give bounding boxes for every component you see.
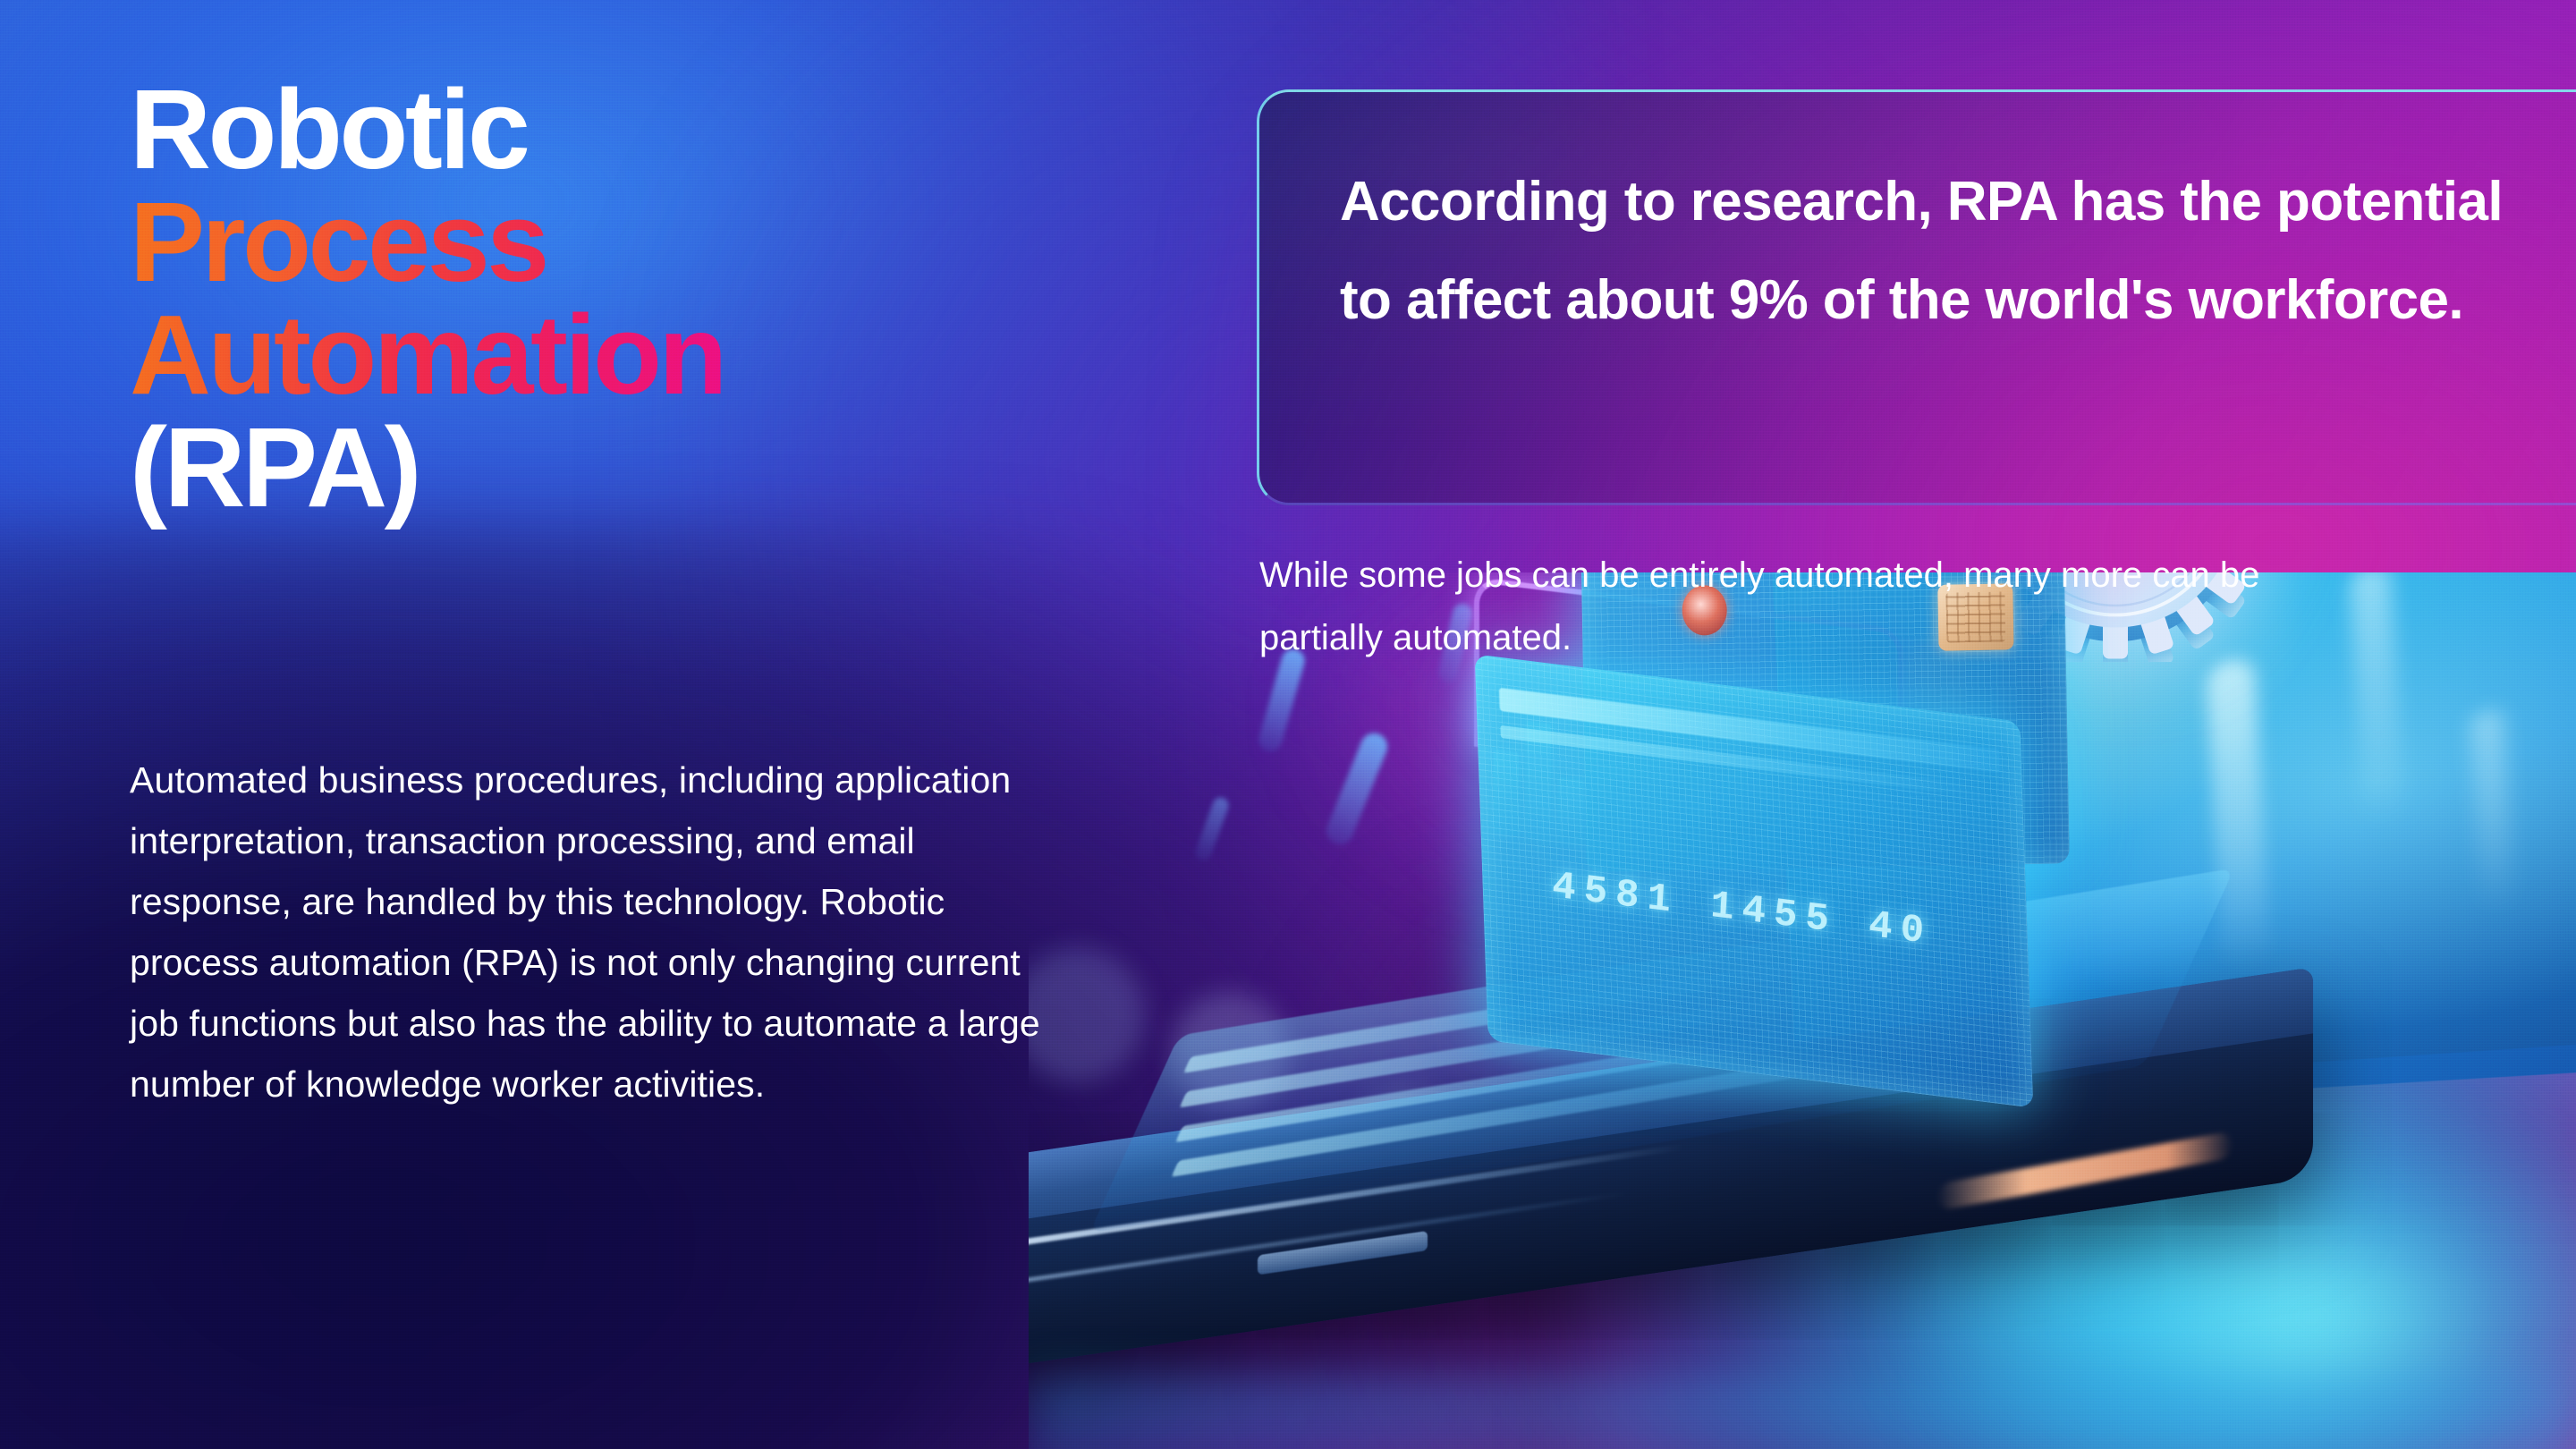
bokeh-light <box>1029 948 1145 1082</box>
body-paragraph: Automated business procedures, including… <box>130 750 1042 1114</box>
sub-paragraph: While some jobs can be entirely automate… <box>1259 544 2377 669</box>
light-streak <box>1193 795 1231 863</box>
laptop-latch <box>1258 1231 1428 1275</box>
laptop-illustration: 4581 1455 40 <box>1029 572 2576 1449</box>
surface-reflection <box>1029 1377 2576 1449</box>
title-line-automation: Automation <box>130 299 1185 411</box>
title-line-rpa: (RPA) <box>130 411 1185 524</box>
page-title: Robotic Process Automation (RPA) <box>130 73 1185 524</box>
holographic-card-front: 4581 1455 40 <box>1475 654 2034 1107</box>
statistic-callout-card: According to research, RPA has the poten… <box>1257 89 2576 505</box>
rpa-infographic-slide: 4581 1455 40 Robotic Process Automation … <box>0 0 2576 1449</box>
title-line-process: Process <box>130 186 1185 299</box>
title-line-robotic: Robotic <box>130 73 1185 186</box>
statistic-text: According to research, RPA has the poten… <box>1340 153 2503 350</box>
